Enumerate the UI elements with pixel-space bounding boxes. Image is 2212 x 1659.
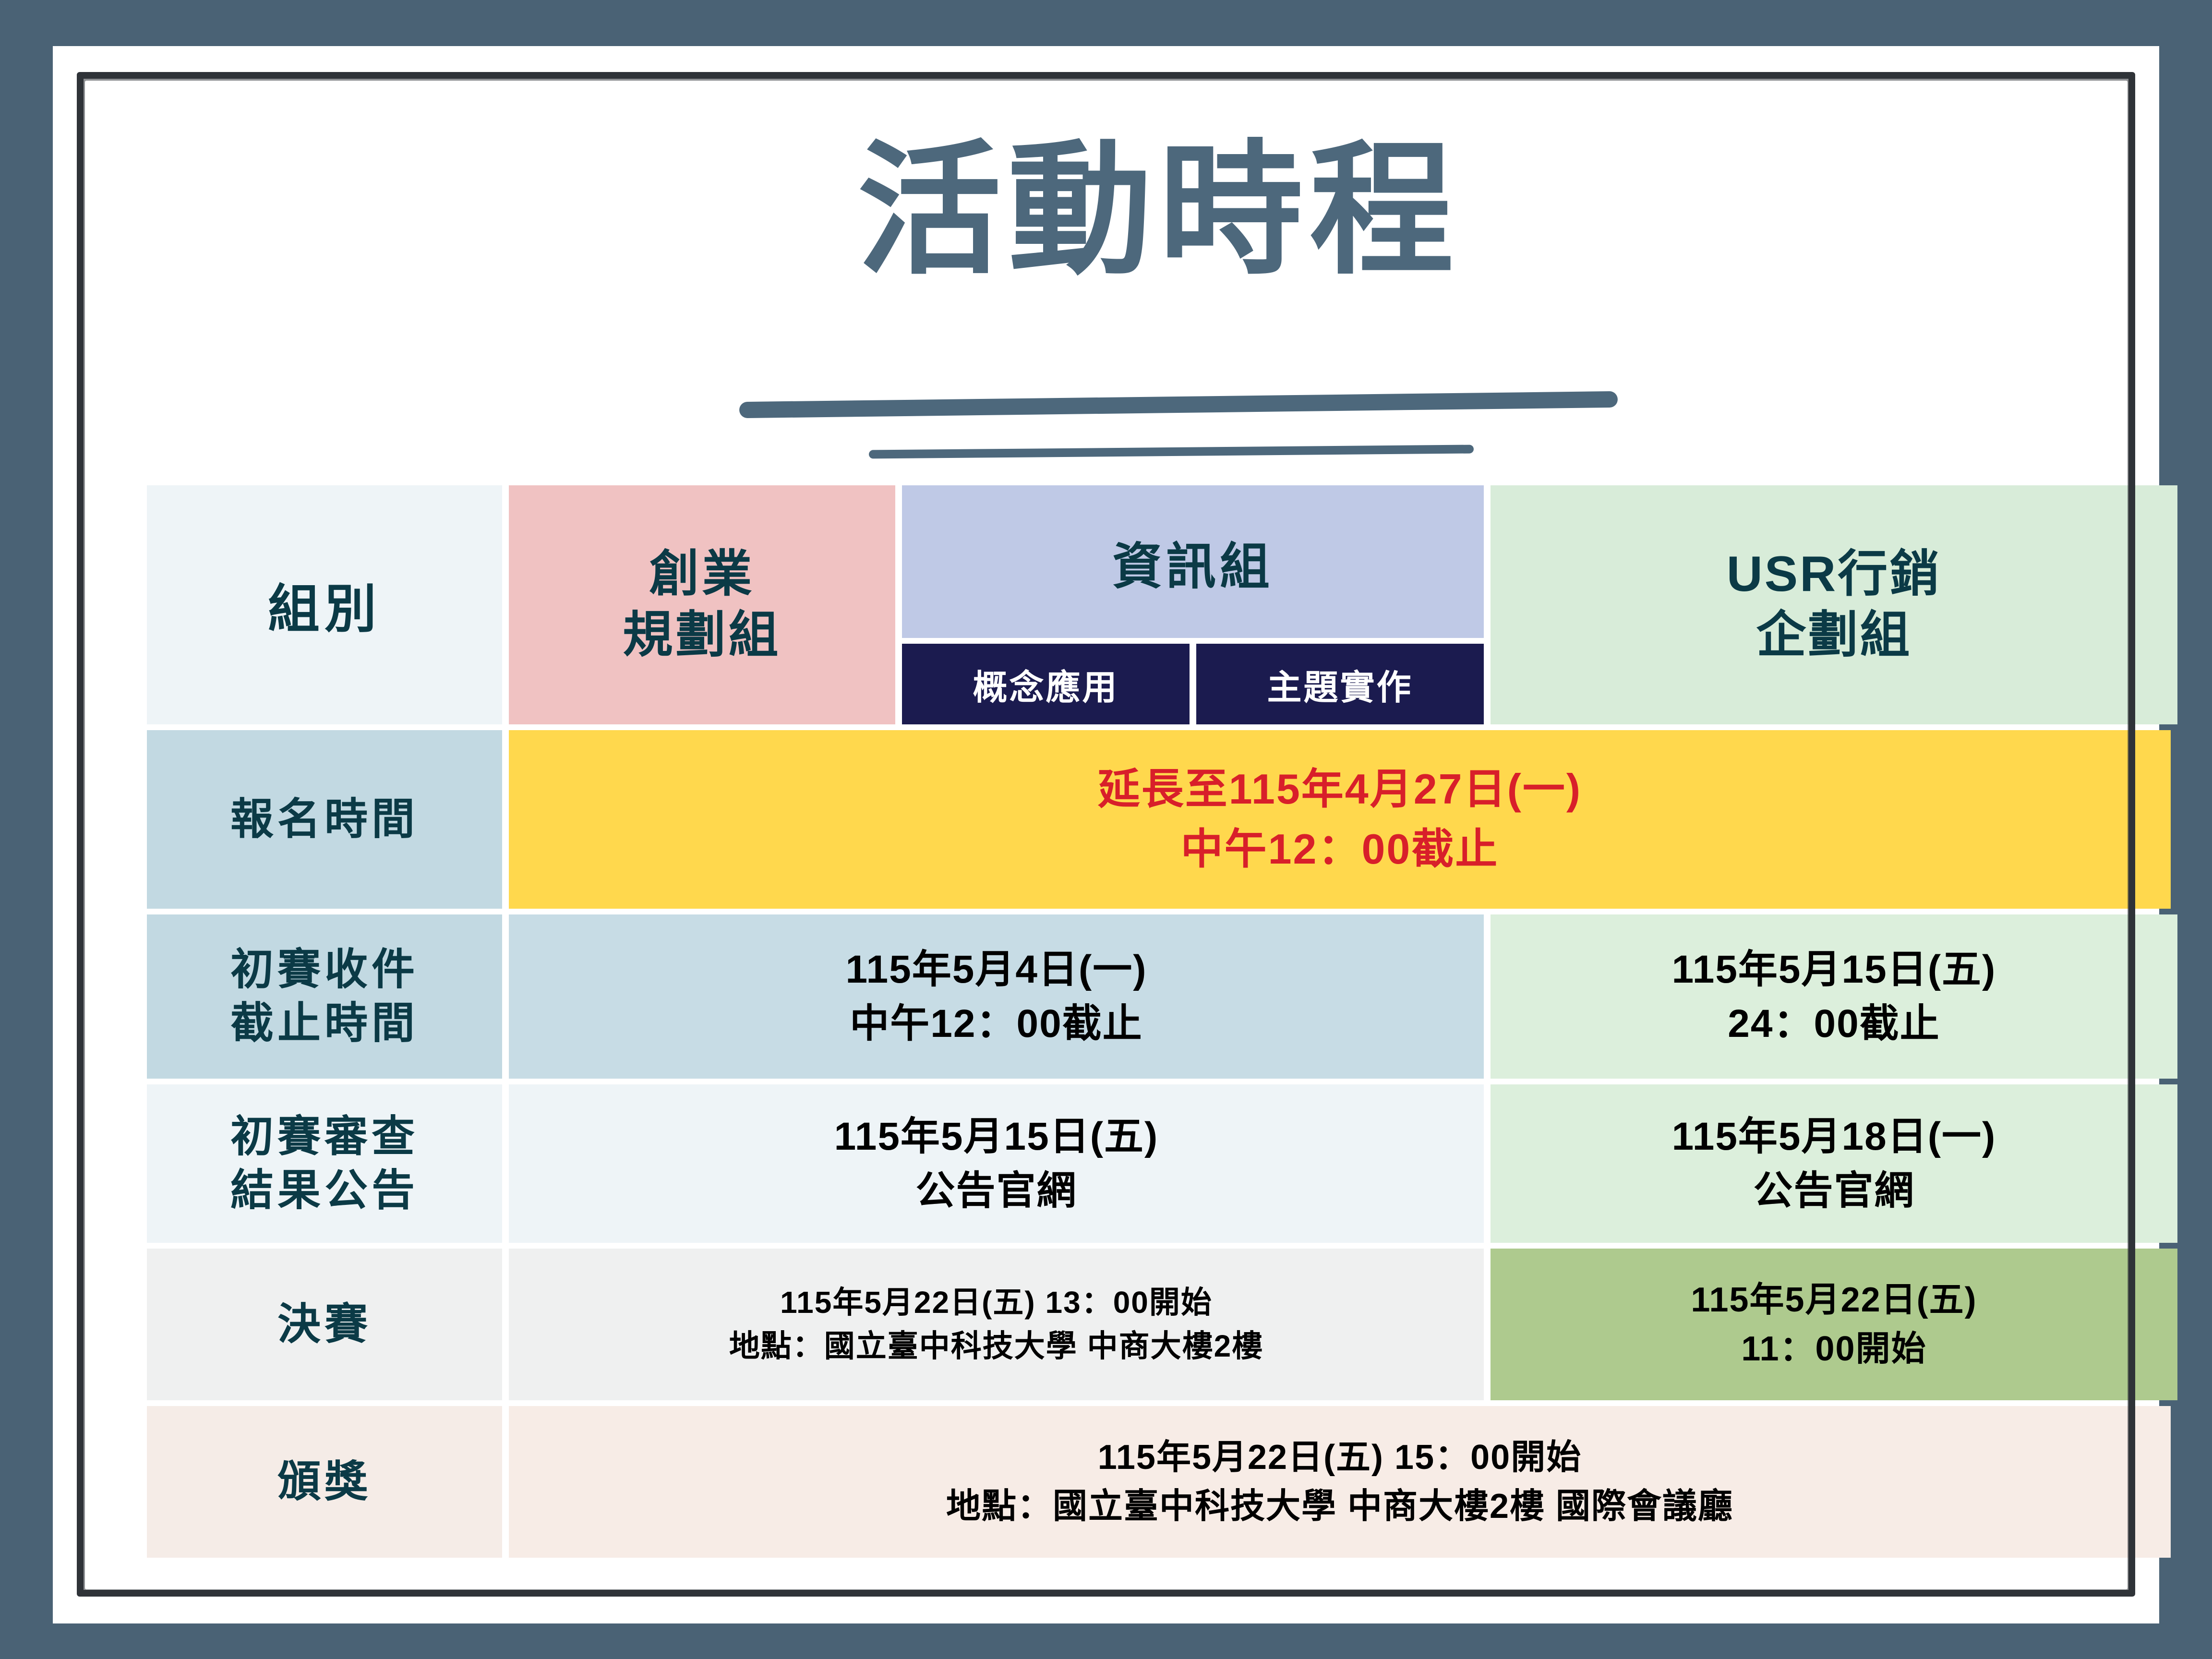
- page-title-wrap: 活動時程: [130, 137, 2188, 284]
- row-label-submission-line2: 截止時間: [230, 997, 419, 1051]
- row-label-registration-line1: 報名時間: [230, 793, 419, 847]
- award-venue: 地點：國立臺中科技大學 中商大樓2樓 國際會議廳: [946, 1482, 1733, 1531]
- registration-deadline-date: 延長至115年4月27日(一): [1098, 759, 1582, 819]
- row-label-final: 決賽: [147, 1249, 502, 1400]
- review-result-right: 115年5月18日(一) 公告官網: [1491, 1084, 2177, 1243]
- registration-deadline-time: 中午12：00截止: [1181, 819, 1499, 879]
- header-info-sub-practice: 主題實作: [1196, 644, 1484, 724]
- final-left: 115年5月22日(五) 13：00開始 地點：國立臺中科技大學 中商大樓2樓: [509, 1249, 1484, 1400]
- row-label-submission-line1: 初賽收件: [230, 943, 419, 997]
- row-label-final-line1: 決賽: [277, 1298, 372, 1352]
- submission-deadline-right: 115年5月15日(五) 24：00截止: [1491, 914, 2177, 1079]
- row-label-registration: 報名時間: [147, 730, 502, 909]
- header-cell-entrepreneur: 創業 規劃組: [509, 485, 895, 724]
- row-label-award: 頒獎: [147, 1406, 502, 1558]
- row-label-submission-deadline: 初賽收件 截止時間: [147, 914, 502, 1079]
- row-label-review-line2: 結果公告: [230, 1164, 419, 1218]
- table-row-submission-deadline: 初賽收件 截止時間 115年5月4日(一) 中午12：00截止 115年5月15…: [147, 914, 2171, 1079]
- header-info-sub-concept: 概念應用: [902, 644, 1190, 724]
- schedule-table: 組別 創業 規劃組 資訊組 概念應用 主題實作 USR行銷 企劃組 報名時間: [147, 485, 2171, 1558]
- poster-page: 活動時程 組別 創業 規劃組 資訊組 概念應用 主題實作 USR行銷 企劃組: [53, 46, 2159, 1623]
- header-cell-info-group: 資訊組 概念應用 主題實作: [902, 485, 1484, 724]
- table-row-award: 頒獎 115年5月22日(五) 15：00開始 地點：國立臺中科技大學 中商大樓…: [147, 1406, 2171, 1558]
- table-row-registration: 報名時間 延長至115年4月27日(一) 中午12：00截止: [147, 730, 2171, 909]
- final-right: 115年5月22日(五) 11：00開始: [1491, 1249, 2177, 1400]
- header-cell-usr: USR行銷 企劃組: [1491, 485, 2177, 724]
- final-right-date: 115年5月22日(五): [1691, 1275, 1977, 1324]
- final-left-datetime: 115年5月22日(五) 13：00開始: [780, 1281, 1213, 1324]
- review-left-date: 115年5月15日(五): [834, 1109, 1159, 1164]
- header-entrepreneur-line2: 規劃組: [623, 605, 781, 666]
- header-info-subgroups: 概念應用 主題實作: [902, 644, 1484, 724]
- review-right-channel: 公告官網: [1753, 1164, 1914, 1218]
- header-info-title: 資訊組: [902, 485, 1484, 638]
- header-usr-line1: USR行銷: [1727, 544, 1942, 605]
- row-label-review-line1: 初賽審查: [230, 1110, 419, 1164]
- review-left-channel: 公告官網: [915, 1164, 1077, 1218]
- row-value-registration: 延長至115年4月27日(一) 中午12：00截止: [509, 730, 2171, 909]
- submission-left-time: 中午12：00截止: [850, 997, 1142, 1051]
- submission-right-time: 24：00截止: [1728, 997, 1940, 1051]
- header-usr-line2: 企劃組: [1756, 605, 1911, 666]
- page-title: 活動時程: [130, 137, 2188, 284]
- header-entrepreneur-line1: 創業: [649, 544, 755, 605]
- table-row-final: 決賽 115年5月22日(五) 13：00開始 地點：國立臺中科技大學 中商大樓…: [147, 1249, 2171, 1400]
- header-cell-group-label: 組別: [147, 485, 502, 724]
- award-value: 115年5月22日(五) 15：00開始 地點：國立臺中科技大學 中商大樓2樓 …: [509, 1406, 2171, 1558]
- review-right-date: 115年5月18日(一): [1672, 1109, 1996, 1164]
- final-right-time: 11：00開始: [1741, 1324, 1926, 1373]
- submission-right-date: 115年5月15日(五): [1672, 942, 1996, 997]
- award-datetime: 115年5月22日(五) 15：00開始: [1098, 1433, 1582, 1482]
- final-left-venue: 地點：國立臺中科技大學 中商大樓2樓: [729, 1324, 1263, 1368]
- submission-left-date: 115年5月4日(一): [845, 942, 1147, 997]
- title-underline-secondary: [869, 445, 1474, 459]
- title-underline-primary: [739, 391, 1618, 418]
- review-result-left: 115年5月15日(五) 公告官網: [509, 1084, 1484, 1243]
- row-label-review-result: 初賽審查 結果公告: [147, 1084, 502, 1243]
- row-label-award-line1: 頒獎: [277, 1455, 372, 1509]
- submission-deadline-left: 115年5月4日(一) 中午12：00截止: [509, 914, 1484, 1079]
- table-header-row: 組別 創業 規劃組 資訊組 概念應用 主題實作 USR行銷 企劃組: [147, 485, 2171, 724]
- table-row-review-result: 初賽審查 結果公告 115年5月15日(五) 公告官網 115年5月18日(一)…: [147, 1084, 2171, 1243]
